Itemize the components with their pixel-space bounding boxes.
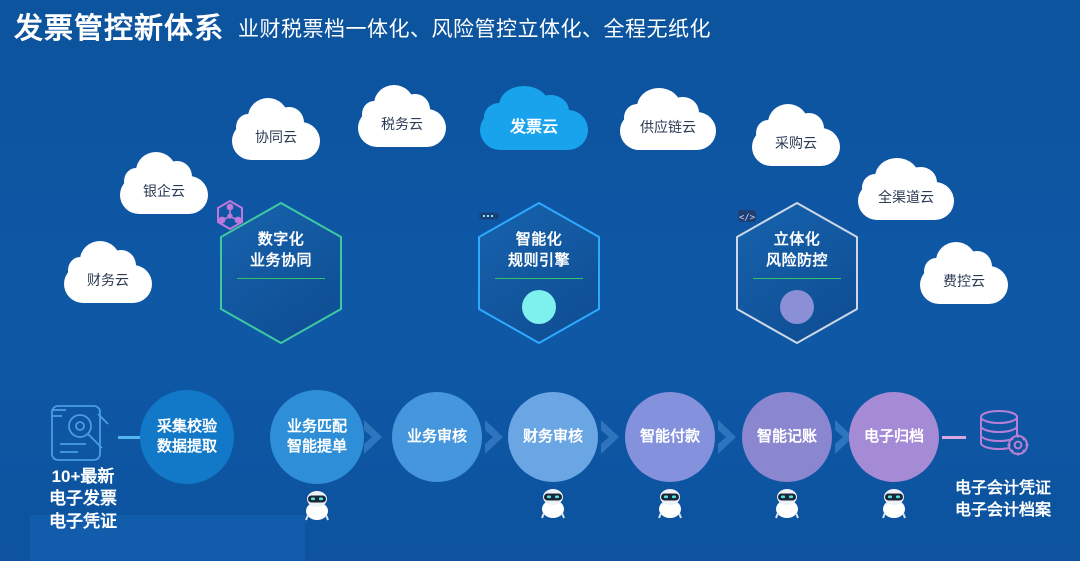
flow-left-caption: 10+最新电子发票电子凭证 (18, 466, 148, 533)
pillar-line1: 智能化 (516, 229, 563, 250)
cloud-gongyinglianyun[interactable]: 供应链云 (620, 88, 716, 150)
pillar-digital-business-collaboration[interactable]: 数字化业务协同 (214, 199, 348, 347)
robot-icon (877, 485, 911, 519)
pillar-line1: 数字化 (258, 229, 305, 250)
pillar-divider (495, 278, 583, 280)
pillar-line2: 规则引擎 (508, 250, 570, 271)
cloud-label: 发票云 (480, 113, 588, 150)
flow-node-label: 智能付款 (640, 427, 700, 447)
robot-icon (300, 487, 334, 521)
flow-node-label: 财务审核 (523, 427, 583, 447)
connector-left (118, 436, 142, 439)
flow-chevron-icon (597, 418, 623, 461)
cloud-xietongyun[interactable]: 协同云 (232, 98, 320, 160)
pillar-divider (237, 278, 325, 280)
pillar-line2: 风险防控 (766, 250, 828, 271)
flow-node-smart-payment[interactable]: 智能付款 (625, 392, 715, 482)
connector-right (942, 436, 966, 439)
code-brackets-icon: </> (730, 199, 764, 233)
svg-text:</>: </> (739, 213, 756, 223)
flow-node-smart-bookkeeping[interactable]: 智能记账 (742, 392, 832, 482)
right-cap-line2: 电子会计档案 (930, 500, 1076, 522)
page-subtitle: 业财税票档一体化、风险管控立体化、全程无纸化 (238, 19, 711, 40)
slide-canvas: 发票管控新体系 业财税票档一体化、风险管控立体化、全程无纸化 财务云银企云协同云… (0, 0, 1080, 561)
cloud-fapiaoyun[interactable]: 发票云 (480, 86, 588, 150)
cloud-label: 协同云 (232, 127, 320, 160)
flow-node-business-match[interactable]: 业务匹配智能提单 (270, 390, 364, 484)
left-cap-line3: 电子凭证 (18, 511, 148, 533)
right-cap-line1: 电子会计凭证 (930, 478, 1076, 500)
flow-node-business-review[interactable]: 业务审核 (392, 392, 482, 482)
cloud-feikongyun[interactable]: 费控云 (920, 242, 1008, 304)
cloud-label: 税务云 (358, 114, 446, 147)
flow-chevron-icon (714, 418, 740, 461)
invoice-scan-icon (46, 396, 120, 466)
flow-node-label: 业务审核 (407, 427, 467, 447)
flow-node-finance-review[interactable]: 财务审核 (508, 392, 598, 482)
page-title: 发票管控新体系 (14, 15, 224, 44)
flow-chevron-icon (481, 418, 507, 461)
pillar-icon-badge (522, 290, 556, 324)
cloud-label: 财务云 (64, 270, 152, 303)
cloud-label: 费控云 (920, 271, 1008, 304)
cloud-label: 全渠道云 (858, 187, 954, 220)
cloud-label: 银企云 (120, 181, 208, 214)
network-nodes-icon (214, 199, 246, 231)
flow-node-label: 电子归档 (864, 427, 924, 447)
flow-node-label: 业务匹配智能提单 (287, 417, 347, 458)
pillar-line1: 立体化 (774, 229, 821, 250)
cloud-label: 供应链云 (620, 117, 716, 150)
cloud-shuiwuyun[interactable]: 税务云 (358, 85, 446, 147)
cloud-yinqiyun[interactable]: 银企云 (120, 152, 208, 214)
cloud-caiwuyun[interactable]: 财务云 (64, 241, 152, 303)
database-gear-icon (972, 404, 1034, 466)
cloud-quanqudaoyun[interactable]: 全渠道云 (858, 158, 954, 220)
flow-node-label: 采集校验数据提取 (157, 417, 217, 458)
cloud-label: 采购云 (752, 133, 840, 166)
pillar-line2: 业务协同 (250, 250, 312, 271)
pillar-divider (753, 278, 841, 280)
pillar-icon-badge (264, 290, 298, 324)
flow-right-caption: 电子会计凭证电子会计档案 (930, 478, 1076, 522)
left-cap-line1: 10+最新 (18, 466, 148, 488)
robot-icon (653, 485, 687, 519)
header-bar: 发票管控新体系 业财税票档一体化、风险管控立体化、全程无纸化 (0, 0, 1080, 58)
pillar-multidimensional-risk-control[interactable]: 立体化风险防控</> (730, 199, 864, 347)
flow-node-label: 智能记账 (757, 427, 817, 447)
cloud-caigouyun[interactable]: 采购云 (752, 104, 840, 166)
flow-node-collect-verify[interactable]: 采集校验数据提取 (140, 390, 234, 484)
robot-icon (536, 485, 570, 519)
rule-engine-icon (472, 199, 506, 233)
flow-node-e-archive[interactable]: 电子归档 (849, 392, 939, 482)
robot-icon (770, 485, 804, 519)
pillar-icon-badge: </> (780, 290, 814, 324)
pillar-intelligent-rule-engine[interactable]: 智能化规则引擎 (472, 199, 606, 347)
left-cap-line2: 电子发票 (18, 488, 148, 510)
